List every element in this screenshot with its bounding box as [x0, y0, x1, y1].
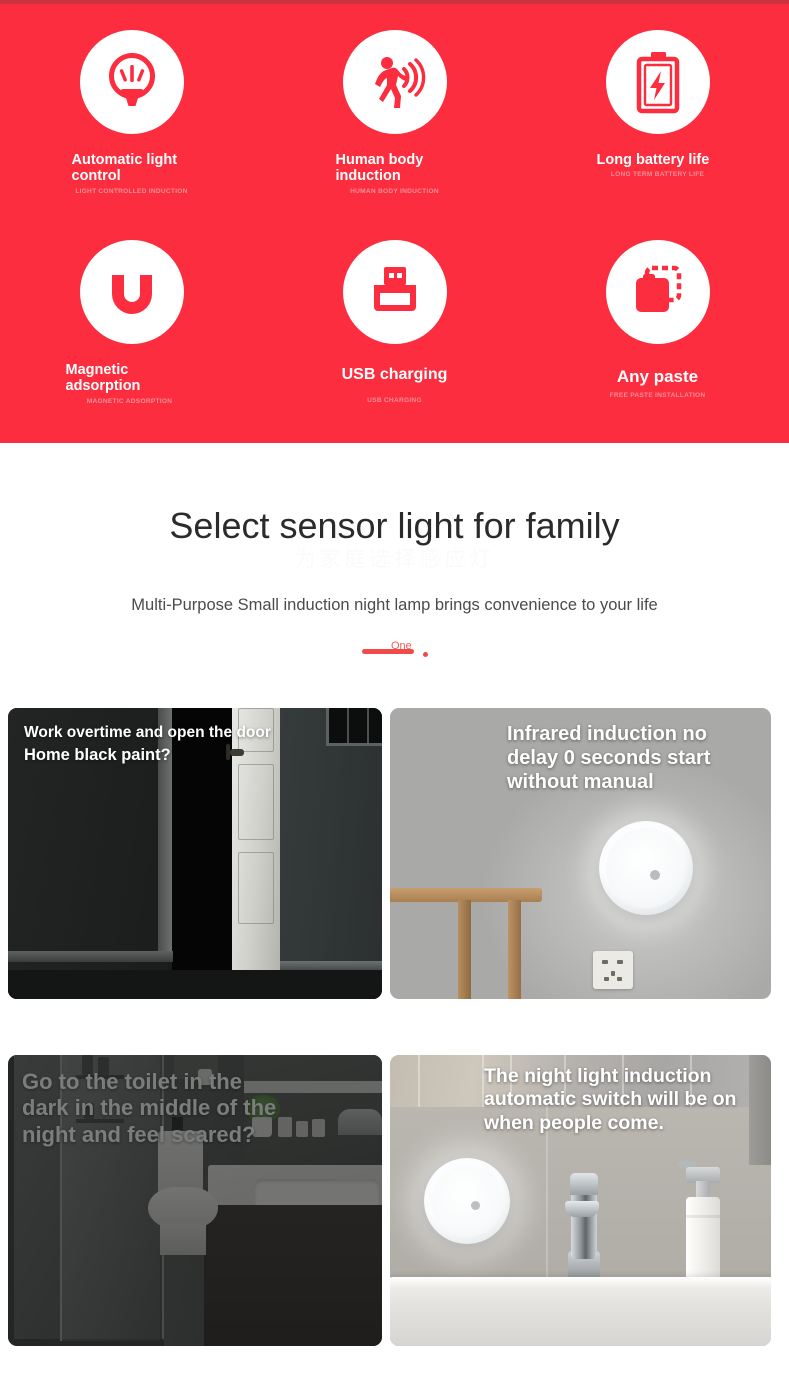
headline-section: Select sensor light for family 为家庭选择感应灯 …: [0, 443, 789, 708]
page-subtitle: Multi-Purpose Small induction night lamp…: [0, 596, 789, 615]
feature-highlight-panel: Automatic light control LIGHT CONTROLLED…: [0, 0, 789, 443]
scene-caption: Work overtime and open the door Home bla…: [24, 724, 274, 765]
wall-outlet: [593, 951, 633, 989]
feature-subtitle: USB CHARGING: [315, 397, 475, 404]
feature-title: Automatic light control: [72, 152, 190, 185]
page-title: Select sensor light for family: [0, 508, 789, 544]
feature-item-automatic-light-control[interactable]: Automatic light control LIGHT CONTROLLED…: [0, 14, 263, 224]
section-divider: One: [0, 639, 789, 669]
feature-subtitle: HUMAN BODY INDUCTION: [315, 188, 475, 195]
feature-item-long-battery-life[interactable]: Long battery life LONG TERM BATTERY LIFE: [526, 14, 789, 224]
feature-item-any-paste[interactable]: Any paste FREE PASTE INSTALLATION: [526, 224, 789, 434]
feature-subtitle: FREE PASTE INSTALLATION: [578, 392, 738, 399]
dark-bathroom-photo: [8, 1055, 382, 1346]
panel-top-accent-bar: [0, 0, 789, 4]
scene-card-dark-hallway[interactable]: Work overtime and open the door Home bla…: [8, 708, 382, 999]
walking-person-sensor-icon: [364, 51, 426, 113]
feature-item-magnetic-adsorption[interactable]: Magnetic adsorption MAGNETIC ADSORPTION: [0, 224, 263, 434]
feature-grid: Automatic light control LIGHT CONTROLLED…: [0, 14, 789, 434]
icon-badge: [343, 240, 447, 344]
night-lamp-device: [424, 1158, 510, 1244]
headline-ghost-text: 为家庭选择感应灯: [0, 548, 789, 572]
feature-subtitle: LIGHT CONTROLLED INDUCTION: [52, 188, 212, 195]
scene-caption-line-1: Work overtime and open the door: [24, 724, 274, 743]
horseshoe-magnet-icon: [103, 262, 161, 322]
scene-card-wall-lamp[interactable]: Infrared induction no delay 0 seconds st…: [390, 708, 771, 999]
icon-badge: [606, 240, 710, 344]
feature-title: Long battery life: [597, 152, 715, 168]
icon-badge: [343, 30, 447, 134]
feature-title: Magnetic adsorption: [66, 362, 184, 395]
scene-caption: Infrared induction no delay 0 seconds st…: [507, 722, 757, 794]
usb-plug-icon: [365, 264, 425, 320]
night-lamp-device: [599, 821, 693, 915]
light-bulb-icon: [102, 51, 162, 113]
scene-caption-line-2: Home black paint?: [24, 746, 274, 766]
icon-badge: [606, 30, 710, 134]
feature-item-usb-charging[interactable]: USB charging USB CHARGING: [263, 224, 526, 434]
feature-item-human-body-induction[interactable]: Human body induction HUMAN BODY INDUCTIO…: [263, 14, 526, 224]
divider-dot: [423, 652, 428, 657]
feature-title: Any paste: [617, 367, 698, 386]
icon-badge: [80, 30, 184, 134]
battery-bolt-icon: [632, 50, 684, 114]
feature-subtitle: MAGNETIC ADSORPTION: [50, 398, 210, 405]
feature-subtitle: LONG TERM BATTERY LIFE: [578, 171, 738, 178]
feature-title: Human body induction: [336, 152, 454, 185]
divider-label: One: [391, 641, 413, 653]
feature-title: USB charging: [342, 366, 448, 384]
scene-card-lit-bathroom[interactable]: The night light induction automatic swit…: [390, 1055, 771, 1346]
scene-card-dark-bathroom[interactable]: Go to the toilet in the dark in the midd…: [8, 1055, 382, 1346]
scene-caption: The night light induction automatic swit…: [484, 1065, 759, 1135]
icon-badge: [80, 240, 184, 344]
paste-squares-icon: [630, 263, 686, 321]
